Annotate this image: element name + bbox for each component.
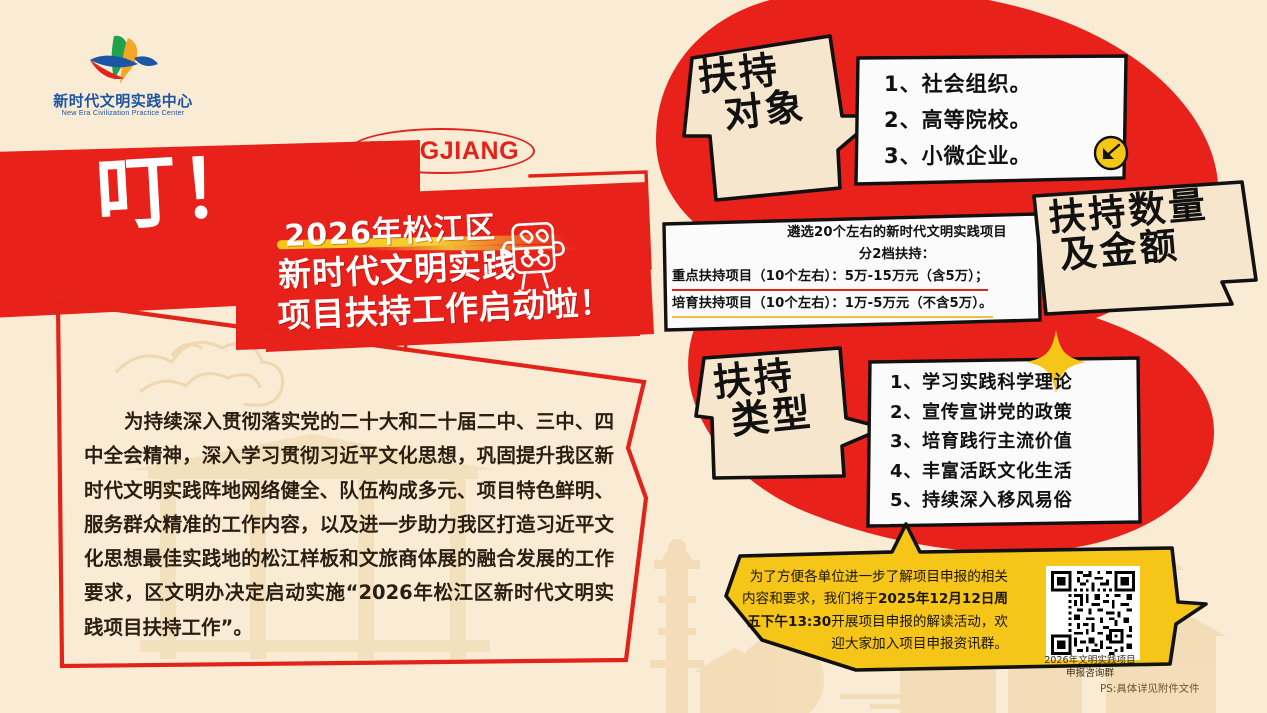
- support-targets-list: 1、社会组织。 2、高等院校。 3、小微企业。: [884, 66, 1124, 174]
- footer-note: PS:具体详见附件文件: [1100, 680, 1260, 695]
- quantity-amount-details: 遴选20个左右的新时代文明实践项目 分2档扶持： 重点扶持项目（10个左右）：5…: [672, 222, 1122, 318]
- list-item: 3、小微企业。: [884, 138, 1124, 174]
- list-item: 1、社会组织。: [884, 66, 1124, 102]
- gift-mascot-icon: [498, 212, 571, 303]
- support-types-list: 1、学习实践科学理论 2、宣传宣讲党的政策 3、培育践行主流价值 4、丰富活跃文…: [890, 368, 1140, 516]
- qr-caption-line-1: 2026年文明实践项目: [1000, 655, 1180, 668]
- region-badge-label: SONGJIANG: [364, 137, 519, 166]
- qr-code[interactable]: [1046, 566, 1140, 660]
- list-item: 2、宣传宣讲党的政策: [890, 398, 1140, 428]
- section-label-line-2: 类型: [729, 390, 838, 440]
- list-item: 2、高等院校。: [884, 102, 1124, 138]
- detail-line-key: 培育扶持项目（10个左右）：1万-5万元（不含5万）。: [672, 293, 993, 318]
- qr-code-caption: 2026年文明实践项目 申报咨询群: [1000, 655, 1180, 680]
- intro-paragraph: 为持续深入贯彻落实党的二十大和二十届二中、三中、四中全会精神，深入学习贯彻习近平…: [84, 405, 614, 645]
- qr-caption-line-2: 申报咨询群: [1000, 668, 1180, 681]
- notice-paragraph: 为了方便各单位进一步了解项目申报的相关内容和要求，我们将于2025年12月12日…: [740, 566, 1008, 656]
- detail-line: 遴选20个左右的新时代文明实践项目: [672, 222, 1122, 244]
- notice-part-2: 开展项目申报的解读活动，欢迎大家加入项目申报资讯群。: [831, 614, 1008, 652]
- section-label-support-targets: 扶持 对象: [696, 45, 833, 136]
- logo-english-name: New Era Civilization Practice Center: [48, 108, 198, 117]
- section-label-line-2: 对象: [722, 84, 833, 134]
- intro-panel: 为持续深入贯彻落实党的二十大和二十届二中、三中、四中全会精神，深入学习贯彻习近平…: [60, 300, 660, 672]
- organization-logo: 新时代文明实践中心 New Era Civilization Practice …: [48, 34, 198, 126]
- notice-date: 2025年12月12日: [878, 591, 994, 607]
- logo-mark-icon: [84, 34, 162, 88]
- poster-canvas: 新时代文明实践中心 New Era Civilization Practice …: [0, 0, 1267, 713]
- list-item: 4、丰富活跃文化生活: [890, 457, 1140, 487]
- detail-line: 分2档扶持：: [672, 244, 1122, 266]
- detail-line-key: 重点扶持项目（10个左右）：5万-15万元（含5万）；: [672, 266, 988, 291]
- region-badge: SONGJIANG: [348, 128, 535, 174]
- arrow-down-left-icon: [1092, 134, 1130, 172]
- attention-headline: 叮！: [94, 143, 279, 243]
- list-item: 1、学习实践科学理论: [890, 368, 1140, 398]
- list-item: 3、培育践行主流价值: [890, 427, 1140, 457]
- list-item: 5、持续深入移风易俗: [890, 486, 1140, 516]
- section-label-support-types: 扶持 类型: [711, 352, 838, 442]
